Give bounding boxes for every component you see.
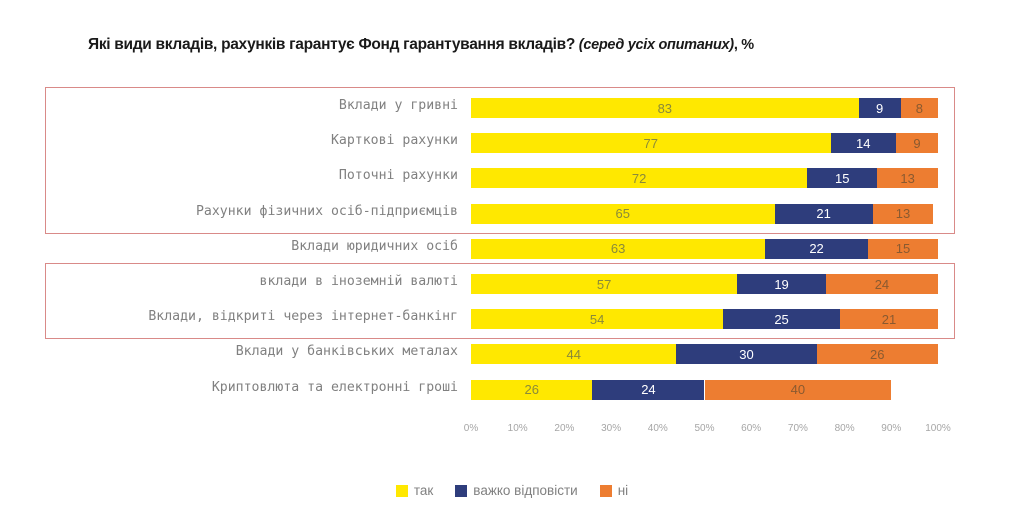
bar-row: Криптовлюта та електронні гроші262440 bbox=[0, 377, 1024, 403]
bar-segment-value: 13 bbox=[896, 206, 910, 221]
bar-segment-ні[interactable]: 13 bbox=[873, 204, 934, 224]
bar-segment-ні[interactable]: 40 bbox=[705, 380, 892, 400]
bar-segment-value: 15 bbox=[896, 241, 910, 256]
bar-segment-важко[interactable]: 14 bbox=[831, 133, 896, 153]
bar-track: 652113 bbox=[471, 204, 938, 224]
legend-swatch-icon bbox=[455, 485, 467, 497]
bar-segment-важко[interactable]: 24 bbox=[592, 380, 704, 400]
bar-segment-value: 13 bbox=[900, 171, 914, 186]
legend-item-hard[interactable]: важко відповісти bbox=[455, 483, 577, 498]
bar-row: Поточні рахунки721513 bbox=[0, 165, 1024, 191]
x-axis: 0%10%20%30%40%50%60%70%80%90%100% bbox=[471, 423, 938, 439]
bar-row: Вклади, відкриті через інтернет-банкінг5… bbox=[0, 306, 1024, 332]
bar-track: 571924 bbox=[471, 274, 938, 294]
bar-track: 443026 bbox=[471, 344, 938, 364]
bar-segment-value: 26 bbox=[870, 347, 884, 362]
bar-row-label: вклади в іноземній валюті bbox=[260, 274, 459, 289]
bar-segment-value: 63 bbox=[611, 241, 625, 256]
bar-segment-value: 25 bbox=[774, 312, 788, 327]
bar-row: вклади в іноземній валюті571924 bbox=[0, 271, 1024, 297]
x-axis-tick: 30% bbox=[601, 423, 621, 434]
bar-segment-важко[interactable]: 30 bbox=[676, 344, 816, 364]
bar-segment-ні[interactable]: 24 bbox=[826, 274, 938, 294]
bar-segment-так[interactable]: 26 bbox=[471, 380, 592, 400]
bar-segment-value: 83 bbox=[658, 101, 672, 116]
bar-segment-ні[interactable]: 8 bbox=[901, 98, 938, 118]
bar-track: 77149 bbox=[471, 133, 938, 153]
bar-segment-важко[interactable]: 19 bbox=[737, 274, 826, 294]
bar-segment-value: 22 bbox=[809, 241, 823, 256]
bar-row: Карткові рахунки77149 bbox=[0, 130, 1024, 156]
x-axis-tick: 70% bbox=[788, 423, 808, 434]
plot-area: Вклади у гривні8398Карткові рахунки77149… bbox=[0, 0, 1024, 529]
legend-label: так bbox=[414, 483, 433, 498]
bar-segment-важко[interactable]: 21 bbox=[775, 204, 873, 224]
bar-segment-value: 54 bbox=[590, 312, 604, 327]
bar-row: Вклади у банківських металах443026 bbox=[0, 341, 1024, 367]
bar-track: 262440 bbox=[471, 380, 938, 400]
x-axis-tick: 40% bbox=[648, 423, 668, 434]
bar-row: Вклади у гривні8398 bbox=[0, 95, 1024, 121]
bar-segment-value: 26 bbox=[524, 382, 538, 397]
x-axis-tick: 50% bbox=[694, 423, 714, 434]
bar-track: 632215 bbox=[471, 239, 938, 259]
bar-segment-важко[interactable]: 25 bbox=[723, 309, 840, 329]
bar-segment-ні[interactable]: 21 bbox=[840, 309, 938, 329]
bar-segment-value: 9 bbox=[876, 101, 883, 116]
bar-segment-важко[interactable]: 9 bbox=[859, 98, 901, 118]
bar-segment-ні[interactable]: 13 bbox=[877, 168, 938, 188]
bar-segment-так[interactable]: 63 bbox=[471, 239, 765, 259]
bar-row-label: Криптовлюта та електронні гроші bbox=[212, 380, 458, 395]
bar-segment-value: 40 bbox=[791, 382, 805, 397]
bar-segment-ні[interactable]: 26 bbox=[817, 344, 938, 364]
x-axis-tick: 60% bbox=[741, 423, 761, 434]
bar-segment-так[interactable]: 44 bbox=[471, 344, 676, 364]
bar-segment-value: 21 bbox=[882, 312, 896, 327]
legend-label: ні bbox=[618, 483, 628, 498]
legend-item-yes[interactable]: так bbox=[396, 483, 433, 498]
bar-segment-value: 8 bbox=[916, 101, 923, 116]
chart-legend: такважко відповістині bbox=[0, 483, 1024, 498]
bar-row-label: Карткові рахунки bbox=[331, 133, 458, 148]
x-axis-tick: 0% bbox=[464, 423, 478, 434]
bar-segment-value: 57 bbox=[597, 277, 611, 292]
x-axis-tick: 20% bbox=[554, 423, 574, 434]
bar-row-label: Рахунки фізичних осіб-підприємців bbox=[196, 204, 458, 219]
bar-row-label: Вклади, відкриті через інтернет-банкінг bbox=[148, 309, 458, 324]
bar-row-label: Вклади у банківських металах bbox=[236, 344, 458, 359]
bar-segment-важко[interactable]: 22 bbox=[765, 239, 868, 259]
bar-segment-так[interactable]: 65 bbox=[471, 204, 775, 224]
bar-segment-важко[interactable]: 15 bbox=[807, 168, 877, 188]
x-axis-tick: 10% bbox=[508, 423, 528, 434]
bar-segment-value: 44 bbox=[567, 347, 581, 362]
bar-segment-value: 9 bbox=[913, 136, 920, 151]
x-axis-tick: 90% bbox=[881, 423, 901, 434]
bar-row-label: Вклади у гривні bbox=[339, 98, 458, 113]
bar-segment-value: 21 bbox=[816, 206, 830, 221]
bar-segment-ні[interactable]: 15 bbox=[868, 239, 938, 259]
legend-label: важко відповісти bbox=[473, 483, 577, 498]
legend-swatch-icon bbox=[600, 485, 612, 497]
bar-segment-value: 19 bbox=[774, 277, 788, 292]
bar-row: Вклади юридичних осіб632215 bbox=[0, 236, 1024, 262]
bar-segment-так[interactable]: 72 bbox=[471, 168, 807, 188]
bar-row-label: Поточні рахунки bbox=[339, 168, 458, 183]
bar-segment-так[interactable]: 54 bbox=[471, 309, 723, 329]
bar-segment-ні[interactable]: 9 bbox=[896, 133, 938, 153]
x-axis-tick: 80% bbox=[835, 423, 855, 434]
bar-segment-value: 24 bbox=[875, 277, 889, 292]
bar-track: 721513 bbox=[471, 168, 938, 188]
bar-segment-value: 65 bbox=[616, 206, 630, 221]
x-axis-tick: 100% bbox=[925, 423, 951, 434]
bar-segment-так[interactable]: 57 bbox=[471, 274, 737, 294]
bar-track: 542521 bbox=[471, 309, 938, 329]
legend-swatch-icon bbox=[396, 485, 408, 497]
bar-segment-value: 14 bbox=[856, 136, 870, 151]
bar-segment-так[interactable]: 83 bbox=[471, 98, 859, 118]
bar-track: 8398 bbox=[471, 98, 938, 118]
bar-row: Рахунки фізичних осіб-підприємців652113 bbox=[0, 201, 1024, 227]
legend-item-no[interactable]: ні bbox=[600, 483, 628, 498]
bar-row-label: Вклади юридичних осіб bbox=[291, 239, 458, 254]
bar-segment-так[interactable]: 77 bbox=[471, 133, 831, 153]
bar-segment-value: 72 bbox=[632, 171, 646, 186]
bar-segment-value: 77 bbox=[644, 136, 658, 151]
bar-segment-value: 24 bbox=[641, 382, 655, 397]
bar-segment-value: 30 bbox=[739, 347, 753, 362]
bar-segment-value: 15 bbox=[835, 171, 849, 186]
